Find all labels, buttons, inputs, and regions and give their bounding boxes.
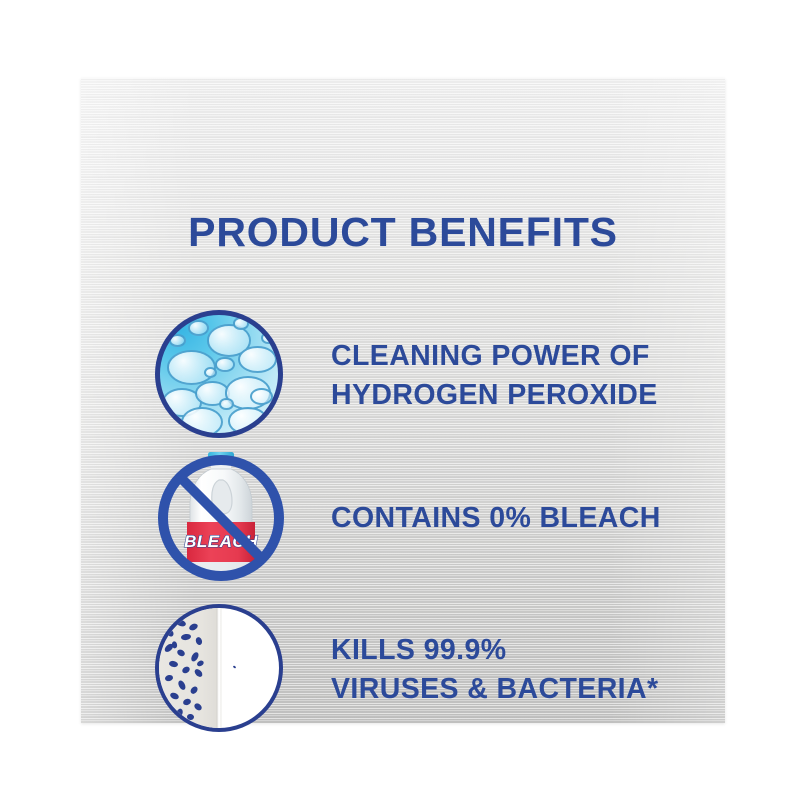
water-bubbles-icon (153, 308, 289, 444)
germ-circle (155, 604, 283, 732)
product-benefits-image: PRODUCT BENEFITS (0, 0, 800, 800)
water-bubbles-circle (155, 310, 283, 438)
benefit-text-kills-germs: KILLS 99.9% VIRUSES & BACTERIA* (331, 631, 658, 709)
germ-split-circle-icon (153, 602, 289, 738)
brushed-metal-panel: PRODUCT BENEFITS (81, 78, 725, 723)
benefit-text-no-bleach: CONTAINS 0% BLEACH (331, 499, 661, 538)
benefit-text-hydrogen-peroxide: CLEANING POWER OF HYDROGEN PEROXIDE (331, 337, 658, 415)
page-title: PRODUCT BENEFITS (81, 209, 725, 256)
germ-dirty-half (159, 608, 219, 728)
no-bleach-svg: BLEACH (153, 450, 289, 586)
germ-divider (217, 608, 222, 728)
germ-residual-speck (233, 665, 237, 668)
benefit-row-kills-germs: KILLS 99.9% VIRUSES & BACTERIA* (153, 602, 713, 738)
benefit-row-no-bleach: BLEACH CONTAINS 0% BLEACH (153, 450, 713, 586)
no-bleach-icon: BLEACH (153, 450, 289, 586)
benefit-row-hydrogen-peroxide: CLEANING POWER OF HYDROGEN PEROXIDE (153, 308, 713, 444)
